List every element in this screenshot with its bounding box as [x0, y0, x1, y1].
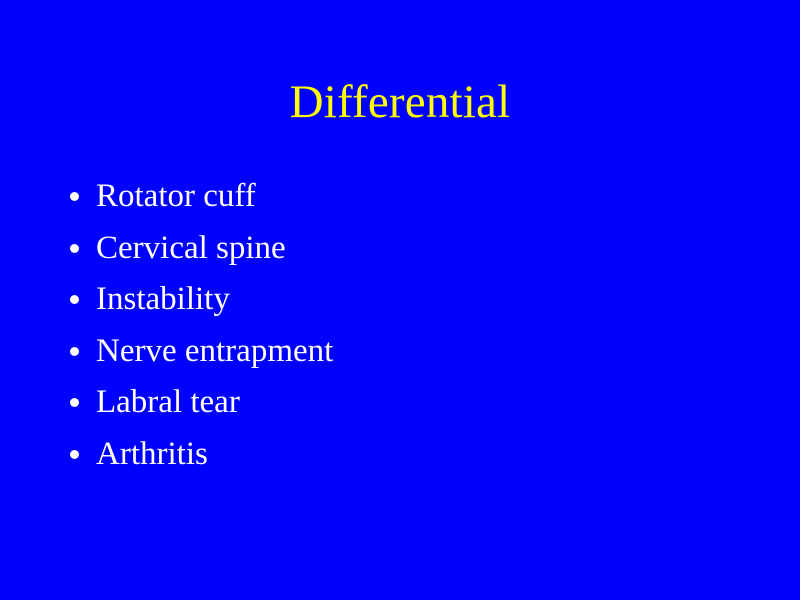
list-item: Arthritis — [62, 433, 752, 485]
list-item-label: Nerve entrapment — [96, 330, 333, 373]
list-item-label: Cervical spine — [96, 227, 286, 270]
list-item-label: Instability — [96, 278, 230, 321]
list-item: Nerve entrapment — [62, 330, 752, 382]
round-bullet-icon — [70, 347, 79, 356]
list-item-label: Arthritis — [96, 433, 208, 476]
round-bullet-icon — [70, 295, 79, 304]
list-item: Labral tear — [62, 381, 752, 433]
bullet-list: Rotator cuff Cervical spine Instability … — [62, 175, 752, 484]
presentation-slide: Differential Rotator cuff Cervical spine… — [0, 0, 800, 600]
list-item: Cervical spine — [62, 227, 752, 279]
list-item-label: Labral tear — [96, 381, 240, 424]
list-item: Instability — [62, 278, 752, 330]
round-bullet-icon — [70, 192, 79, 201]
round-bullet-icon — [70, 244, 79, 253]
list-item: Rotator cuff — [62, 175, 752, 227]
round-bullet-icon — [70, 398, 79, 407]
slide-title: Differential — [0, 74, 800, 130]
round-bullet-icon — [70, 450, 79, 459]
list-item-label: Rotator cuff — [96, 175, 256, 218]
